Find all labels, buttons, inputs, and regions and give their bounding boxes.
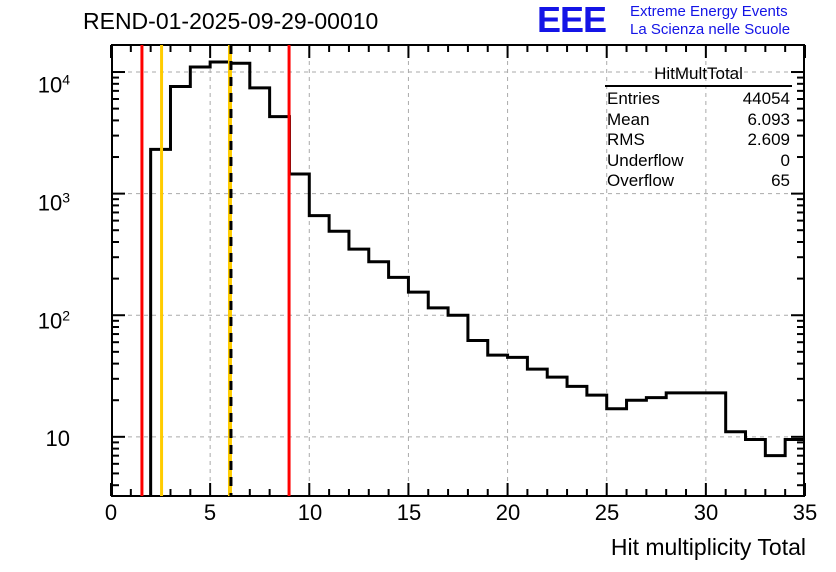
ytick-label-10000: 104: [38, 71, 70, 98]
xtick-label-20: 20: [496, 500, 520, 526]
stats-key: Mean: [607, 110, 650, 131]
xtick-label-35: 35: [793, 500, 817, 526]
stats-value: 44054: [743, 89, 790, 110]
stats-row: Overflow 65: [601, 171, 796, 192]
ytick-label-100: 102: [38, 307, 70, 334]
stats-key: RMS: [607, 130, 645, 151]
xaxis-title: Hit multiplicity Total: [611, 534, 806, 561]
stats-value: 0: [781, 151, 790, 172]
stats-row: Underflow 0: [601, 151, 796, 172]
stats-key: Entries: [607, 89, 660, 110]
xtick-label-0: 0: [105, 500, 117, 526]
stats-title: HitMultTotal: [605, 64, 792, 87]
xtick-label-25: 25: [595, 500, 619, 526]
xtick-label-5: 5: [204, 500, 216, 526]
stats-box: HitMultTotal Entries 44054 Mean 6.093 RM…: [601, 62, 796, 200]
root-canvas: REND-01-2025-09-29-00010 EEE EEE Extreme…: [0, 0, 836, 572]
eee-logo: EEE EEE Extreme Energy Events La Scienza…: [537, 2, 833, 42]
stats-row: Mean 6.093: [601, 110, 796, 131]
ytick-label-10: 10: [46, 426, 70, 452]
page-title: REND-01-2025-09-29-00010: [83, 8, 378, 35]
stats-value: 6.093: [747, 110, 790, 131]
xtick-label-15: 15: [397, 500, 421, 526]
stats-key: Underflow: [607, 151, 684, 172]
stats-value: 65: [771, 171, 790, 192]
stats-value: 2.609: [747, 130, 790, 151]
eee-logo-line1: Extreme Energy Events: [630, 3, 788, 20]
eee-logo-mark: EEE: [537, 2, 606, 38]
ytick-label-1000: 103: [38, 189, 70, 216]
xtick-label-10: 10: [298, 500, 322, 526]
stats-row: Entries 44054: [601, 89, 796, 110]
xtick-label-30: 30: [694, 500, 718, 526]
stats-row: RMS 2.609: [601, 130, 796, 151]
eee-logo-line2: La Scienza nelle Scuole: [630, 21, 790, 38]
stats-key: Overflow: [607, 171, 674, 192]
